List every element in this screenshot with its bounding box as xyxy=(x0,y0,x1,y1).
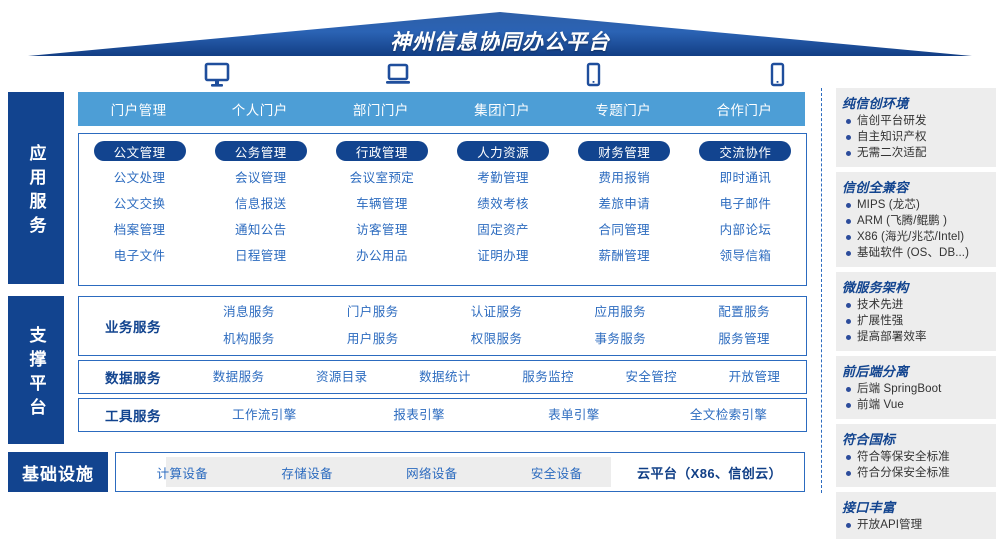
app-column: 公文管理 公文处理 公文交换 档案管理 电子文件 xyxy=(79,134,200,285)
portal-item[interactable]: 专题门户 xyxy=(563,99,684,119)
rail-infrastructure: 基础设施 xyxy=(8,452,108,492)
app-sub-item[interactable]: 固定资产 xyxy=(477,217,529,243)
bullet-icon xyxy=(846,203,851,208)
feature-text: 基础软件 (OS、DB...) xyxy=(857,246,969,261)
app-column-title[interactable]: 人力资源 xyxy=(457,141,549,161)
infrastructure-item[interactable]: 安全设备 xyxy=(494,463,619,482)
feature-card: 微服务架构 技术先进 扩展性强 提高部署效率 xyxy=(836,272,996,351)
app-column: 人力资源 考勤管理 绩效考核 固定资产 证明办理 xyxy=(443,134,564,285)
support-item[interactable]: 机构服务 xyxy=(187,326,311,353)
bullet-icon xyxy=(846,387,851,392)
app-sub-item[interactable]: 公文处理 xyxy=(114,165,166,191)
feature-list-item: 符合等保安全标准 xyxy=(842,450,990,465)
app-sub-item[interactable]: 证明办理 xyxy=(477,243,529,269)
support-item[interactable]: 服务管理 xyxy=(682,326,806,353)
app-sub-item[interactable]: 领导信箱 xyxy=(720,243,772,269)
portal-item[interactable]: 合作门户 xyxy=(684,99,805,119)
app-sub-item[interactable]: 通知公告 xyxy=(235,217,287,243)
app-sub-item[interactable]: 电子文件 xyxy=(114,243,166,269)
feature-list-item: 符合分保安全标准 xyxy=(842,466,990,481)
application-services-card: 公文管理 公文处理 公文交换 档案管理 电子文件 公务管理 会议管理 信息报送 … xyxy=(78,133,807,286)
app-column-title[interactable]: 交流协作 xyxy=(699,141,791,161)
feature-text: 无需二次适配 xyxy=(857,146,927,161)
bullet-icon xyxy=(846,251,851,256)
app-column: 公务管理 会议管理 信息报送 通知公告 日程管理 xyxy=(200,134,321,285)
feature-list-item: ARM (飞腾/鲲鹏 ) xyxy=(842,214,990,229)
feature-text: 自主知识产权 xyxy=(857,130,927,145)
support-item[interactable]: 用户服务 xyxy=(311,326,435,353)
portal-item[interactable]: 集团门户 xyxy=(442,99,563,119)
device-icon-row xyxy=(80,60,805,92)
infrastructure-row: 计算设备 存储设备 网络设备 安全设备 云平台（X86、信创云） xyxy=(115,452,805,492)
support-item[interactable]: 表单引擎 xyxy=(497,402,652,429)
feature-text: 符合分保安全标准 xyxy=(857,466,950,481)
support-item[interactable]: 服务监控 xyxy=(497,364,600,391)
support-item[interactable]: 开放管理 xyxy=(703,364,806,391)
bullet-icon xyxy=(846,455,851,460)
support-row-label: 工具服务 xyxy=(79,405,187,425)
bullet-icon xyxy=(846,119,851,124)
portal-item[interactable]: 个人门户 xyxy=(199,99,320,119)
app-sub-item[interactable]: 会议管理 xyxy=(235,165,287,191)
feature-card-title: 微服务架构 xyxy=(842,277,990,296)
app-sub-item[interactable]: 内部论坛 xyxy=(720,217,772,243)
bullet-icon xyxy=(846,319,851,324)
support-item[interactable]: 安全管控 xyxy=(600,364,703,391)
support-item[interactable]: 事务服务 xyxy=(558,326,682,353)
feature-list-item: 无需二次适配 xyxy=(842,146,990,161)
feature-text: 提高部署效率 xyxy=(857,330,927,345)
bullet-icon xyxy=(846,303,851,308)
app-sub-item[interactable]: 公文交换 xyxy=(114,191,166,217)
tablet-icon xyxy=(578,60,608,95)
app-sub-item[interactable]: 电子邮件 xyxy=(720,191,772,217)
feature-card: 前后端分离 后端 SpringBoot 前端 Vue xyxy=(836,356,996,419)
support-item[interactable]: 门户服务 xyxy=(311,299,435,326)
bullet-icon xyxy=(846,219,851,224)
feature-text: 技术先进 xyxy=(857,298,903,313)
feature-list-item: 技术先进 xyxy=(842,298,990,313)
feature-list-item: 信创平台研发 xyxy=(842,114,990,129)
app-sub-item[interactable]: 办公用品 xyxy=(356,243,408,269)
portal-bar: 门户管理 个人门户 部门门户 集团门户 专题门户 合作门户 xyxy=(78,92,805,126)
support-item[interactable]: 应用服务 xyxy=(558,299,682,326)
title-banner: 神州信息协同办公平台 xyxy=(0,0,1000,58)
feature-text: 扩展性强 xyxy=(857,314,903,329)
feature-card: 纯信创环境 信创平台研发 自主知识产权 无需二次适配 xyxy=(836,88,996,167)
page-title: 神州信息协同办公平台 xyxy=(0,26,1000,56)
feature-card-title: 信创全兼容 xyxy=(842,177,990,196)
app-sub-item[interactable]: 薪酬管理 xyxy=(598,243,650,269)
feature-list-item: 自主知识产权 xyxy=(842,130,990,145)
feature-list-item: X86 (海光/兆芯/Intel) xyxy=(842,230,990,245)
app-sub-item[interactable]: 差旅申请 xyxy=(598,191,650,217)
app-sub-item[interactable]: 信息报送 xyxy=(235,191,287,217)
vertical-dashed-divider xyxy=(821,88,822,493)
app-sub-item[interactable]: 即时通讯 xyxy=(720,165,772,191)
feature-list-item: 扩展性强 xyxy=(842,314,990,329)
rail-support-platform: 支撑平台 xyxy=(8,296,64,444)
feature-text: MIPS (龙芯) xyxy=(857,198,920,213)
feature-text: 前端 Vue xyxy=(857,398,904,413)
feature-card-title: 纯信创环境 xyxy=(842,93,990,112)
feature-text: ARM (飞腾/鲲鹏 ) xyxy=(857,214,947,229)
feature-list-item: MIPS (龙芯) xyxy=(842,198,990,213)
app-column: 交流协作 即时通讯 电子邮件 内部论坛 领导信箱 xyxy=(685,134,806,285)
bullet-icon xyxy=(846,135,851,140)
infrastructure-item-cloud[interactable]: 云平台（X86、信创云） xyxy=(619,463,800,482)
app-column-title[interactable]: 公文管理 xyxy=(94,141,186,161)
feature-card: 接口丰富 开放API管理 xyxy=(836,492,996,539)
feature-list-item: 前端 Vue xyxy=(842,398,990,413)
bullet-icon xyxy=(846,335,851,340)
app-sub-item[interactable]: 档案管理 xyxy=(114,217,166,243)
app-sub-item[interactable]: 合同管理 xyxy=(598,217,650,243)
app-sub-item[interactable]: 会议室预定 xyxy=(350,165,415,191)
support-item[interactable]: 报表引擎 xyxy=(342,402,497,429)
feature-text: X86 (海光/兆芯/Intel) xyxy=(857,230,964,245)
app-sub-item[interactable]: 绩效考核 xyxy=(477,191,529,217)
feature-list-item: 基础软件 (OS、DB...) xyxy=(842,246,990,261)
feature-panel: 纯信创环境 信创平台研发 自主知识产权 无需二次适配 信创全兼容 MIPS (龙… xyxy=(836,88,996,544)
bullet-icon xyxy=(846,523,851,528)
app-column: 行政管理 会议室预定 车辆管理 访客管理 办公用品 xyxy=(321,134,442,285)
support-item[interactable]: 工作流引擎 xyxy=(187,402,342,429)
support-item[interactable]: 消息服务 xyxy=(187,299,311,326)
bullet-icon xyxy=(846,235,851,240)
app-sub-item[interactable]: 日程管理 xyxy=(235,243,287,269)
feature-card: 信创全兼容 MIPS (龙芯) ARM (飞腾/鲲鹏 ) X86 (海光/兆芯/… xyxy=(836,172,996,267)
support-row-tools: 工具服务 工作流引擎 报表引擎 表单引擎 全文检索引擎 xyxy=(78,398,807,432)
bullet-icon xyxy=(846,403,851,408)
infrastructure-item[interactable]: 计算设备 xyxy=(120,463,245,482)
bullet-icon xyxy=(846,471,851,476)
desktop-icon xyxy=(202,60,232,95)
app-column-title[interactable]: 公务管理 xyxy=(215,141,307,161)
feature-text: 后端 SpringBoot xyxy=(857,382,941,397)
feature-card-title: 前后端分离 xyxy=(842,361,990,380)
app-sub-item[interactable]: 车辆管理 xyxy=(356,191,408,217)
portal-item[interactable]: 部门门户 xyxy=(320,99,441,119)
support-row-label: 业务服务 xyxy=(79,316,187,336)
support-item[interactable]: 数据统计 xyxy=(393,364,496,391)
feature-list-item: 开放API管理 xyxy=(842,518,990,533)
portal-item[interactable]: 门户管理 xyxy=(78,99,199,119)
app-column: 财务管理 费用报销 差旅申请 合同管理 薪酬管理 xyxy=(564,134,685,285)
bullet-icon xyxy=(846,151,851,156)
app-sub-item[interactable]: 费用报销 xyxy=(598,165,650,191)
feature-card-title: 符合国标 xyxy=(842,429,990,448)
app-column-title[interactable]: 行政管理 xyxy=(336,141,428,161)
app-sub-item[interactable]: 考勤管理 xyxy=(477,165,529,191)
support-item[interactable]: 认证服务 xyxy=(435,299,559,326)
support-row-data: 数据服务 数据服务 资源目录 数据统计 服务监控 安全管控 开放管理 xyxy=(78,360,807,394)
support-row-label: 数据服务 xyxy=(79,367,187,387)
infrastructure-item[interactable]: 网络设备 xyxy=(370,463,495,482)
phone-icon xyxy=(762,60,792,95)
feature-list-item: 提高部署效率 xyxy=(842,330,990,345)
rail-application-services: 应用服务 xyxy=(8,92,64,284)
feature-text: 信创平台研发 xyxy=(857,114,927,129)
support-item[interactable]: 全文检索引擎 xyxy=(651,402,806,429)
feature-text: 开放API管理 xyxy=(857,518,922,533)
support-item[interactable]: 配置服务 xyxy=(682,299,806,326)
feature-list-item: 后端 SpringBoot xyxy=(842,382,990,397)
app-column-title[interactable]: 财务管理 xyxy=(578,141,670,161)
feature-card: 符合国标 符合等保安全标准 符合分保安全标准 xyxy=(836,424,996,487)
support-item[interactable]: 数据服务 xyxy=(187,364,290,391)
infrastructure-item[interactable]: 存储设备 xyxy=(245,463,370,482)
app-sub-item[interactable]: 访客管理 xyxy=(356,217,408,243)
laptop-icon xyxy=(383,60,413,95)
support-item[interactable]: 权限服务 xyxy=(435,326,559,353)
support-item[interactable]: 资源目录 xyxy=(290,364,393,391)
feature-text: 符合等保安全标准 xyxy=(857,450,950,465)
support-row-business: 业务服务 消息服务 门户服务 认证服务 应用服务 配置服务 机构服务 用户服务 … xyxy=(78,296,807,356)
